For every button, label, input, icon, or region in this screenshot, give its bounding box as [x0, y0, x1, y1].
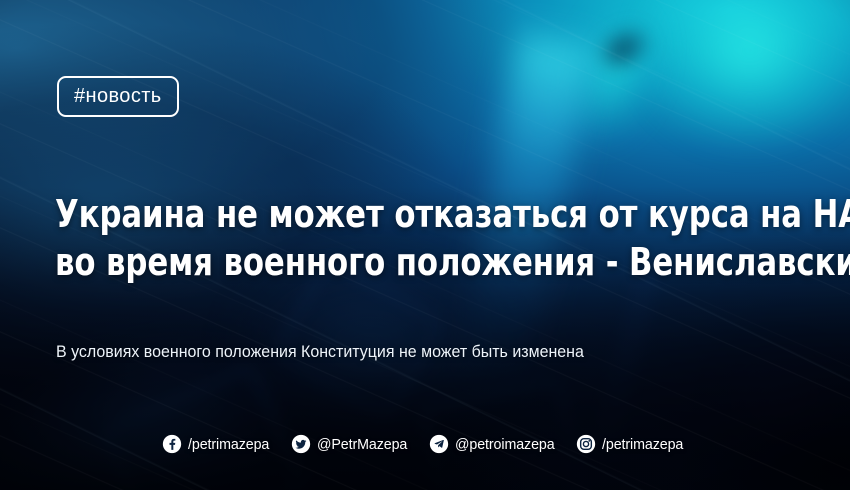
headline-line-1: Украина не может отказаться от курса на …: [55, 190, 739, 238]
headline: Украина не может отказаться от курса на …: [55, 190, 739, 286]
category-badge[interactable]: #новость: [57, 76, 179, 117]
twitter-icon: [291, 434, 311, 454]
headline-line-2: во время военного положения - Вениславск…: [55, 238, 739, 286]
social-link-twitter[interactable]: @PetrMazepa: [291, 434, 412, 454]
social-link-telegram[interactable]: @petroimazepa: [429, 434, 560, 454]
social-link-instagram[interactable]: /petrimazepa: [576, 434, 688, 454]
instagram-icon: [576, 434, 596, 454]
telegram-icon: [429, 434, 449, 454]
social-links: /petrimazepa @PetrMazepa @petroimazepa: [0, 434, 850, 454]
subtitle: В условиях военного положения Конституци…: [56, 341, 584, 363]
social-link-facebook[interactable]: /petrimazepa: [162, 434, 274, 454]
telegram-handle: @petroimazepa: [455, 436, 555, 453]
twitter-handle: @PetrMazepa: [317, 436, 407, 453]
facebook-icon: [162, 434, 182, 454]
instagram-handle: /petrimazepa: [602, 436, 683, 453]
card-content: #новость Украина не может отказаться от …: [0, 0, 850, 490]
facebook-handle: /petrimazepa: [188, 436, 269, 453]
news-card: #новость Украина не может отказаться от …: [0, 0, 850, 490]
